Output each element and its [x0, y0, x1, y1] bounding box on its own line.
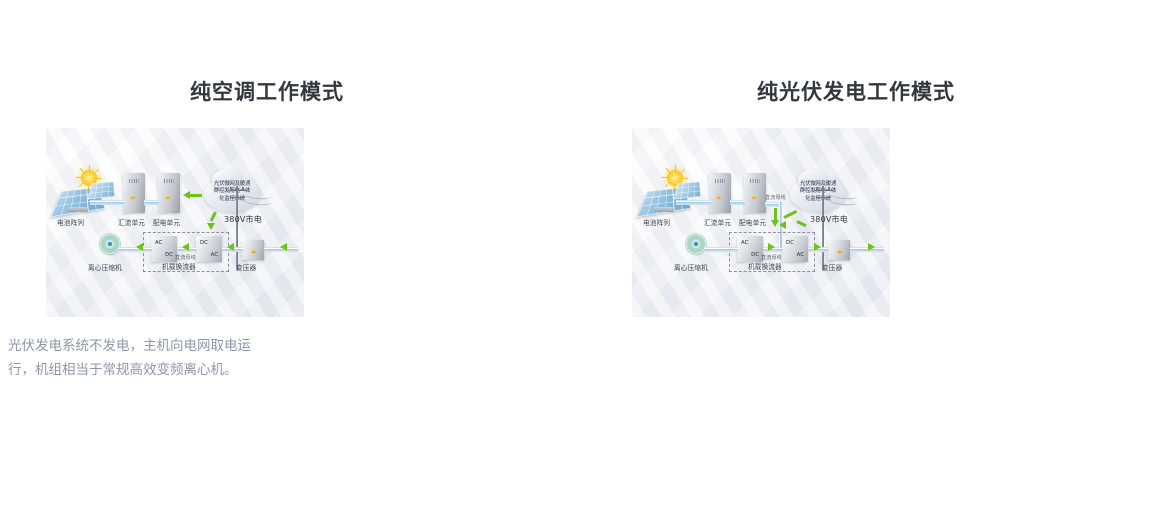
label-converter-group: 机载换流器 [162, 261, 196, 271]
converter-dc-ac: DC AC [196, 236, 222, 262]
panel-caption: 光伏发电系统不发电，主机向电网取电运行，机组相当于常规高效变频离心机。 [8, 334, 260, 382]
bus-pv-to-combiner [90, 200, 125, 205]
bus-combiner-to-distribution [144, 200, 159, 205]
pole-insulator-2 [822, 187, 824, 190]
cloud-arrow-diag2-tail [796, 220, 806, 227]
pv-stand-icon [654, 207, 674, 212]
comparison-page: 纯空调工作模式 电池阵列 汇流单元 配电单元 [0, 0, 1164, 512]
flow-arrow-3 [227, 243, 234, 251]
pole-insulator-1 [230, 187, 232, 190]
cloud-arrow-diag-tail [783, 210, 797, 219]
label-pv-array: 电池阵列 [643, 217, 670, 227]
transformer-icon [828, 240, 850, 260]
pole-insulator-2 [236, 187, 238, 190]
flow-arrow-2 [814, 243, 821, 251]
transformer-icon [242, 240, 264, 260]
flow-arrow-1 [768, 243, 775, 251]
label-combiner-unit: 汇流单元 [118, 217, 145, 227]
flow-arrow-1 [136, 243, 143, 251]
label-transformer: 变压器 [236, 262, 256, 272]
flow-arrow-2 [182, 243, 189, 251]
bus-compressor-to-converter [704, 247, 738, 252]
label-compressor: 离心压缩机 [674, 262, 708, 272]
converter-dc-ac-top-label: DC [786, 240, 794, 246]
pv-panel-small-icon [88, 182, 115, 200]
cloud-arrow-left-head [183, 191, 190, 199]
bus-pv-to-combiner [676, 200, 711, 205]
converter-dc-ac: DC AC [782, 236, 808, 262]
diagram-stage-secondary: 电池阵列 汇流单元 配电单元 直流母线 光伏微网及暖通 群控发用电一体 化监控系… [632, 128, 890, 317]
converter-ac-dc-top-label: AC [155, 240, 162, 246]
converter-dc-ac-bottom-label: AC [211, 252, 218, 258]
label-compressor: 离心压缩机 [88, 262, 122, 272]
diagram-image-pure-pv-mode: 电池阵列 汇流单元 配电单元 直流母线 光伏微网及暖通 群控发用电一体 化监控系… [632, 128, 890, 317]
label-dc-bus-inner: 直流母线 [761, 254, 782, 261]
label-pv-array: 电池阵列 [57, 217, 84, 227]
utility-pole-icon [236, 186, 238, 270]
distribution-unit-cabinet [744, 173, 766, 213]
label-dc-bus-top: 直流母线 [765, 194, 786, 201]
label-distribution-unit: 配电单元 [739, 217, 766, 227]
converter-ac-dc: AC DC [151, 236, 177, 262]
converter-ac-dc-bottom-label: DC [751, 252, 759, 258]
combiner-unit-cabinet [123, 173, 145, 213]
converter-dc-ac-top-label: DC [200, 240, 208, 246]
combiner-unit-cabinet [709, 173, 731, 213]
bus-compressor-to-converter [118, 247, 152, 252]
flow-arrow-4 [280, 243, 287, 251]
cloud-arrow-down-tail [774, 208, 777, 220]
pv-panel-small-icon [674, 182, 701, 200]
pole-insulator-1 [816, 187, 818, 190]
converter-ac-dc-top-label: AC [741, 240, 748, 246]
page-title: 纯空调工作模式 [190, 76, 344, 106]
diagram-image-pure-ac-mode: 电池阵列 汇流单元 配电单元 光伏微网及暖通 群控发用电一体 化监控系统 [46, 128, 304, 317]
pv-stand-icon [68, 207, 88, 212]
label-combiner-unit: 汇流单元 [704, 217, 731, 227]
converter-ac-dc-bottom-label: DC [165, 252, 173, 258]
cloud-arrow-left-tail [190, 194, 202, 197]
distribution-unit-cabinet [158, 173, 180, 213]
label-grid-380v: 380V市电 [224, 214, 262, 225]
cloud-arrow-diag-head [779, 221, 786, 229]
centrifugal-compressor-icon [686, 234, 706, 254]
flow-arrow-3 [868, 243, 875, 251]
converter-dc-ac-bottom-label: AC [797, 252, 804, 258]
utility-pole-icon [822, 186, 824, 270]
cloud-arrow-down-tail [210, 211, 217, 221]
centrifugal-compressor-icon [100, 234, 120, 254]
label-grid-380v: 380V市电 [810, 214, 848, 225]
diagram-stage: 电池阵列 汇流单元 配电单元 光伏微网及暖通 群控发用电一体 化监控系统 [46, 128, 304, 317]
bus-combiner-to-distribution [730, 200, 745, 205]
converter-ac-dc: AC DC [737, 236, 763, 262]
page-title-secondary: 纯光伏发电工作模式 [757, 76, 955, 106]
label-converter-group: 机载换流器 [748, 261, 782, 271]
label-distribution-unit: 配电单元 [153, 217, 180, 227]
cloud-arrow-down-head [771, 220, 779, 227]
bus-transformer-to-grid [850, 247, 884, 252]
label-transformer: 变压器 [822, 262, 842, 272]
label-dc-bus-inner: 直流母线 [175, 254, 196, 261]
cloud-arrow-down-head [207, 223, 215, 230]
